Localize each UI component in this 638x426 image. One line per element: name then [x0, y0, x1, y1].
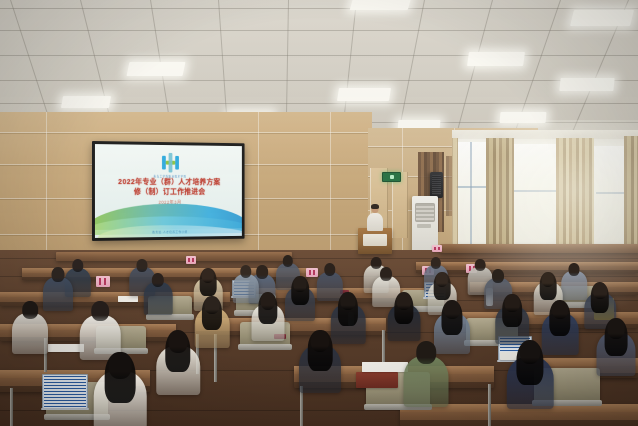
- audience-head: [444, 301, 460, 319]
- audience-head: [169, 331, 188, 353]
- audience-head: [593, 283, 607, 299]
- audience-member: [299, 330, 341, 399]
- logo-mark-icon: [160, 153, 181, 173]
- slide-title-line2: 修（制）订工作推进会: [95, 187, 242, 197]
- audience-head: [397, 293, 411, 310]
- ceiling-light-panel: [570, 10, 634, 26]
- presenter: [366, 205, 384, 231]
- desk-leg: [10, 388, 13, 426]
- audience-head: [568, 263, 579, 276]
- audience-torso: [144, 282, 173, 314]
- audience-member: [507, 340, 554, 416]
- slide-title-line1: 2022年专业（群）人才培养方案: [95, 177, 242, 187]
- audience-member: [561, 262, 587, 304]
- window-pane: [456, 142, 488, 260]
- ceiling-light-panel: [500, 112, 547, 123]
- audience-head: [608, 319, 625, 339]
- audience-head: [431, 257, 441, 269]
- audience-head: [311, 331, 329, 352]
- audience-head: [380, 267, 392, 281]
- audience-head: [205, 297, 220, 314]
- desk-row: [56, 252, 292, 261]
- audience-head: [283, 255, 293, 267]
- window-mullion: [456, 186, 488, 188]
- audience-head: [109, 353, 132, 379]
- projection-screen: 青岛工学院职业技术学院 2022年专业（群）人才培养方案 修（制）订工作推进会 …: [92, 141, 245, 241]
- wall-speaker-icon: [430, 172, 443, 198]
- audience-head: [552, 301, 568, 319]
- audience-head: [520, 341, 540, 364]
- audience-member: [94, 352, 147, 426]
- ceiling-light-panel: [467, 52, 525, 66]
- audience-member: [597, 318, 636, 382]
- paper-sheet: [362, 362, 408, 372]
- ceiling-light-panel: [61, 96, 111, 108]
- ceiling-light-panel: [337, 88, 391, 101]
- window-mullion: [470, 142, 472, 260]
- audience-member: [285, 276, 315, 325]
- audience-member: [252, 292, 285, 346]
- audience-member: [12, 300, 48, 359]
- presenter-hair: [371, 204, 379, 209]
- audience-head: [136, 259, 147, 272]
- audience-torso: [404, 356, 449, 407]
- audience-head: [91, 301, 109, 321]
- lecture-hall-photo: 青岛工学院职业技术学院 2022年专业（群）人才培养方案 修（制）订工作推进会 …: [0, 0, 638, 426]
- window-pane: [512, 144, 560, 260]
- audience-head: [261, 293, 275, 310]
- ceiling-light-panel: [559, 78, 614, 91]
- name-card: [432, 245, 442, 252]
- audience-head: [416, 341, 436, 364]
- exit-sign-icon: [382, 172, 401, 182]
- name-card: [96, 276, 110, 287]
- ac-control-panel: [417, 224, 431, 228]
- desk-row: [440, 244, 638, 253]
- audience-torso: [12, 313, 48, 354]
- audience-member: [144, 272, 173, 319]
- audience-head: [22, 301, 38, 319]
- audience-head: [492, 269, 504, 283]
- audience-member: [388, 292, 421, 346]
- curtain-pelmet: [452, 130, 638, 139]
- ac-vent-grille: [415, 203, 435, 222]
- name-card: [186, 256, 196, 264]
- presenter-torso: [367, 213, 383, 231]
- audience-head: [52, 267, 65, 282]
- window-mullion: [596, 192, 626, 194]
- audience-head: [294, 277, 307, 292]
- audience-member: [404, 340, 449, 414]
- paper-sheet: [48, 344, 84, 352]
- speaker-podium: [358, 228, 392, 254]
- audience-head: [505, 295, 520, 312]
- window-pane: [592, 146, 626, 258]
- presentation-slide: 青岛工学院职业技术学院 2022年专业（群）人才培养方案 修（制）订工作推进会 …: [95, 144, 242, 238]
- ceiling-light-panel: [350, 0, 413, 10]
- slide-title: 2022年专业（群）人才培养方案 修（制）订工作推进会: [95, 177, 242, 197]
- audience-member: [156, 330, 200, 401]
- desk-leg: [488, 384, 491, 426]
- ceiling-light-panel: [127, 62, 186, 76]
- laptop[interactable]: [42, 374, 86, 408]
- institution-logo: 青岛工学院职业技术学院: [153, 153, 186, 179]
- notebook: [356, 372, 398, 388]
- podium-front-panel: [363, 234, 388, 246]
- window-mullion: [512, 190, 560, 192]
- audience-member: [195, 296, 230, 352]
- audience-head: [341, 293, 356, 310]
